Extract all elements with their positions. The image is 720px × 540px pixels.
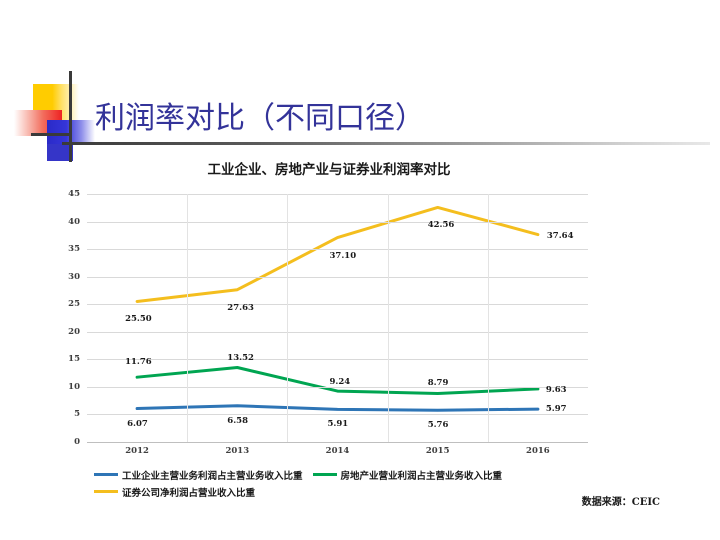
gridline	[87, 442, 588, 443]
x-axis-labels: 20122013201420152016	[87, 446, 588, 466]
data-label: 37.64	[547, 231, 574, 241]
x-axis-tick-label: 2015	[426, 446, 450, 456]
data-label: 42.56	[428, 220, 455, 230]
data-label: 25.50	[125, 314, 152, 324]
gridline	[87, 277, 588, 278]
legend-item-industrial[interactable]: 工业企业主营业务利润占主营业务收入比重	[94, 468, 303, 482]
legend-label-industrial: 工业企业主营业务利润占主营业务收入比重	[122, 468, 303, 482]
chart-container: 工业企业、房地产业与证券业利润率对比 051015202530354045 20…	[0, 150, 720, 540]
y-axis-tick-label: 45	[52, 189, 80, 199]
series-lines	[87, 194, 588, 442]
x-axis-tick-label: 2014	[326, 446, 350, 456]
legend-row-1: 工业企业主营业务利润占主营业务收入比重 房地产业营业利润占主营业务收入比重	[94, 466, 654, 483]
y-axis-tick-label: 15	[52, 354, 80, 364]
gridline	[87, 194, 588, 195]
legend-swatch-realestate	[313, 473, 337, 476]
x-axis-tick-label: 2012	[125, 446, 149, 456]
y-axis-tick-label: 20	[52, 327, 80, 337]
vertical-bar-icon	[69, 71, 72, 162]
data-label: 11.76	[125, 357, 152, 367]
data-label: 6.58	[227, 416, 248, 426]
data-label: 37.10	[330, 251, 357, 261]
y-axis-tick-label: 30	[52, 272, 80, 282]
y-axis-tick-label: 25	[52, 299, 80, 309]
gridline	[87, 304, 588, 305]
series-line	[137, 406, 538, 411]
y-axis-tick-label: 0	[52, 437, 80, 447]
legend-label-realestate: 房地产业营业利润占主营业务收入比重	[341, 468, 503, 482]
data-label: 27.63	[227, 303, 254, 313]
category-separator	[488, 194, 489, 442]
y-axis-tick-label: 5	[52, 409, 80, 419]
legend-item-securities[interactable]: 证券公司净利润占营业收入比重	[94, 485, 255, 499]
category-separator	[187, 194, 188, 442]
title-divider	[62, 142, 710, 145]
legend-label-securities: 证券公司净利润占营业收入比重	[122, 485, 255, 499]
plot-area: 6.076.585.915.765.9711.7613.529.248.799.…	[87, 194, 588, 442]
data-label: 5.91	[328, 419, 349, 429]
data-label: 6.07	[127, 419, 148, 429]
x-axis-tick-label: 2013	[225, 446, 249, 456]
legend-row-2: 证券公司净利润占营业收入比重	[94, 483, 654, 500]
legend-swatch-securities	[94, 490, 118, 493]
legend-swatch-industrial	[94, 473, 118, 476]
data-label: 9.63	[546, 385, 567, 395]
y-axis-labels: 051015202530354045	[50, 194, 80, 442]
gridline	[87, 332, 588, 333]
x-axis-tick-label: 2016	[526, 446, 550, 456]
data-label: 5.97	[546, 404, 567, 414]
category-separator	[388, 194, 389, 442]
y-axis-tick-label: 10	[52, 382, 80, 392]
gridline	[87, 414, 588, 415]
chart-legend: 工业企业主营业务利润占主营业务收入比重 房地产业营业利润占主营业务收入比重 证券…	[94, 466, 654, 500]
data-label: 9.24	[330, 377, 351, 387]
category-separator	[287, 194, 288, 442]
legend-item-realestate[interactable]: 房地产业营业利润占主营业务收入比重	[313, 468, 503, 482]
gridline	[87, 222, 588, 223]
data-source-note: 数据来源：CEIC	[582, 493, 660, 508]
page-title: 利润率对比（不同口径）	[95, 93, 425, 137]
data-label: 5.76	[428, 420, 449, 430]
gridline	[87, 359, 588, 360]
data-label: 13.52	[227, 353, 254, 363]
y-axis-tick-label: 40	[52, 217, 80, 227]
horizontal-bar-icon	[31, 133, 72, 136]
chart-title: 工业企业、房地产业与证券业利润率对比	[0, 158, 658, 178]
data-label: 8.79	[428, 378, 449, 388]
y-axis-tick-label: 35	[52, 244, 80, 254]
